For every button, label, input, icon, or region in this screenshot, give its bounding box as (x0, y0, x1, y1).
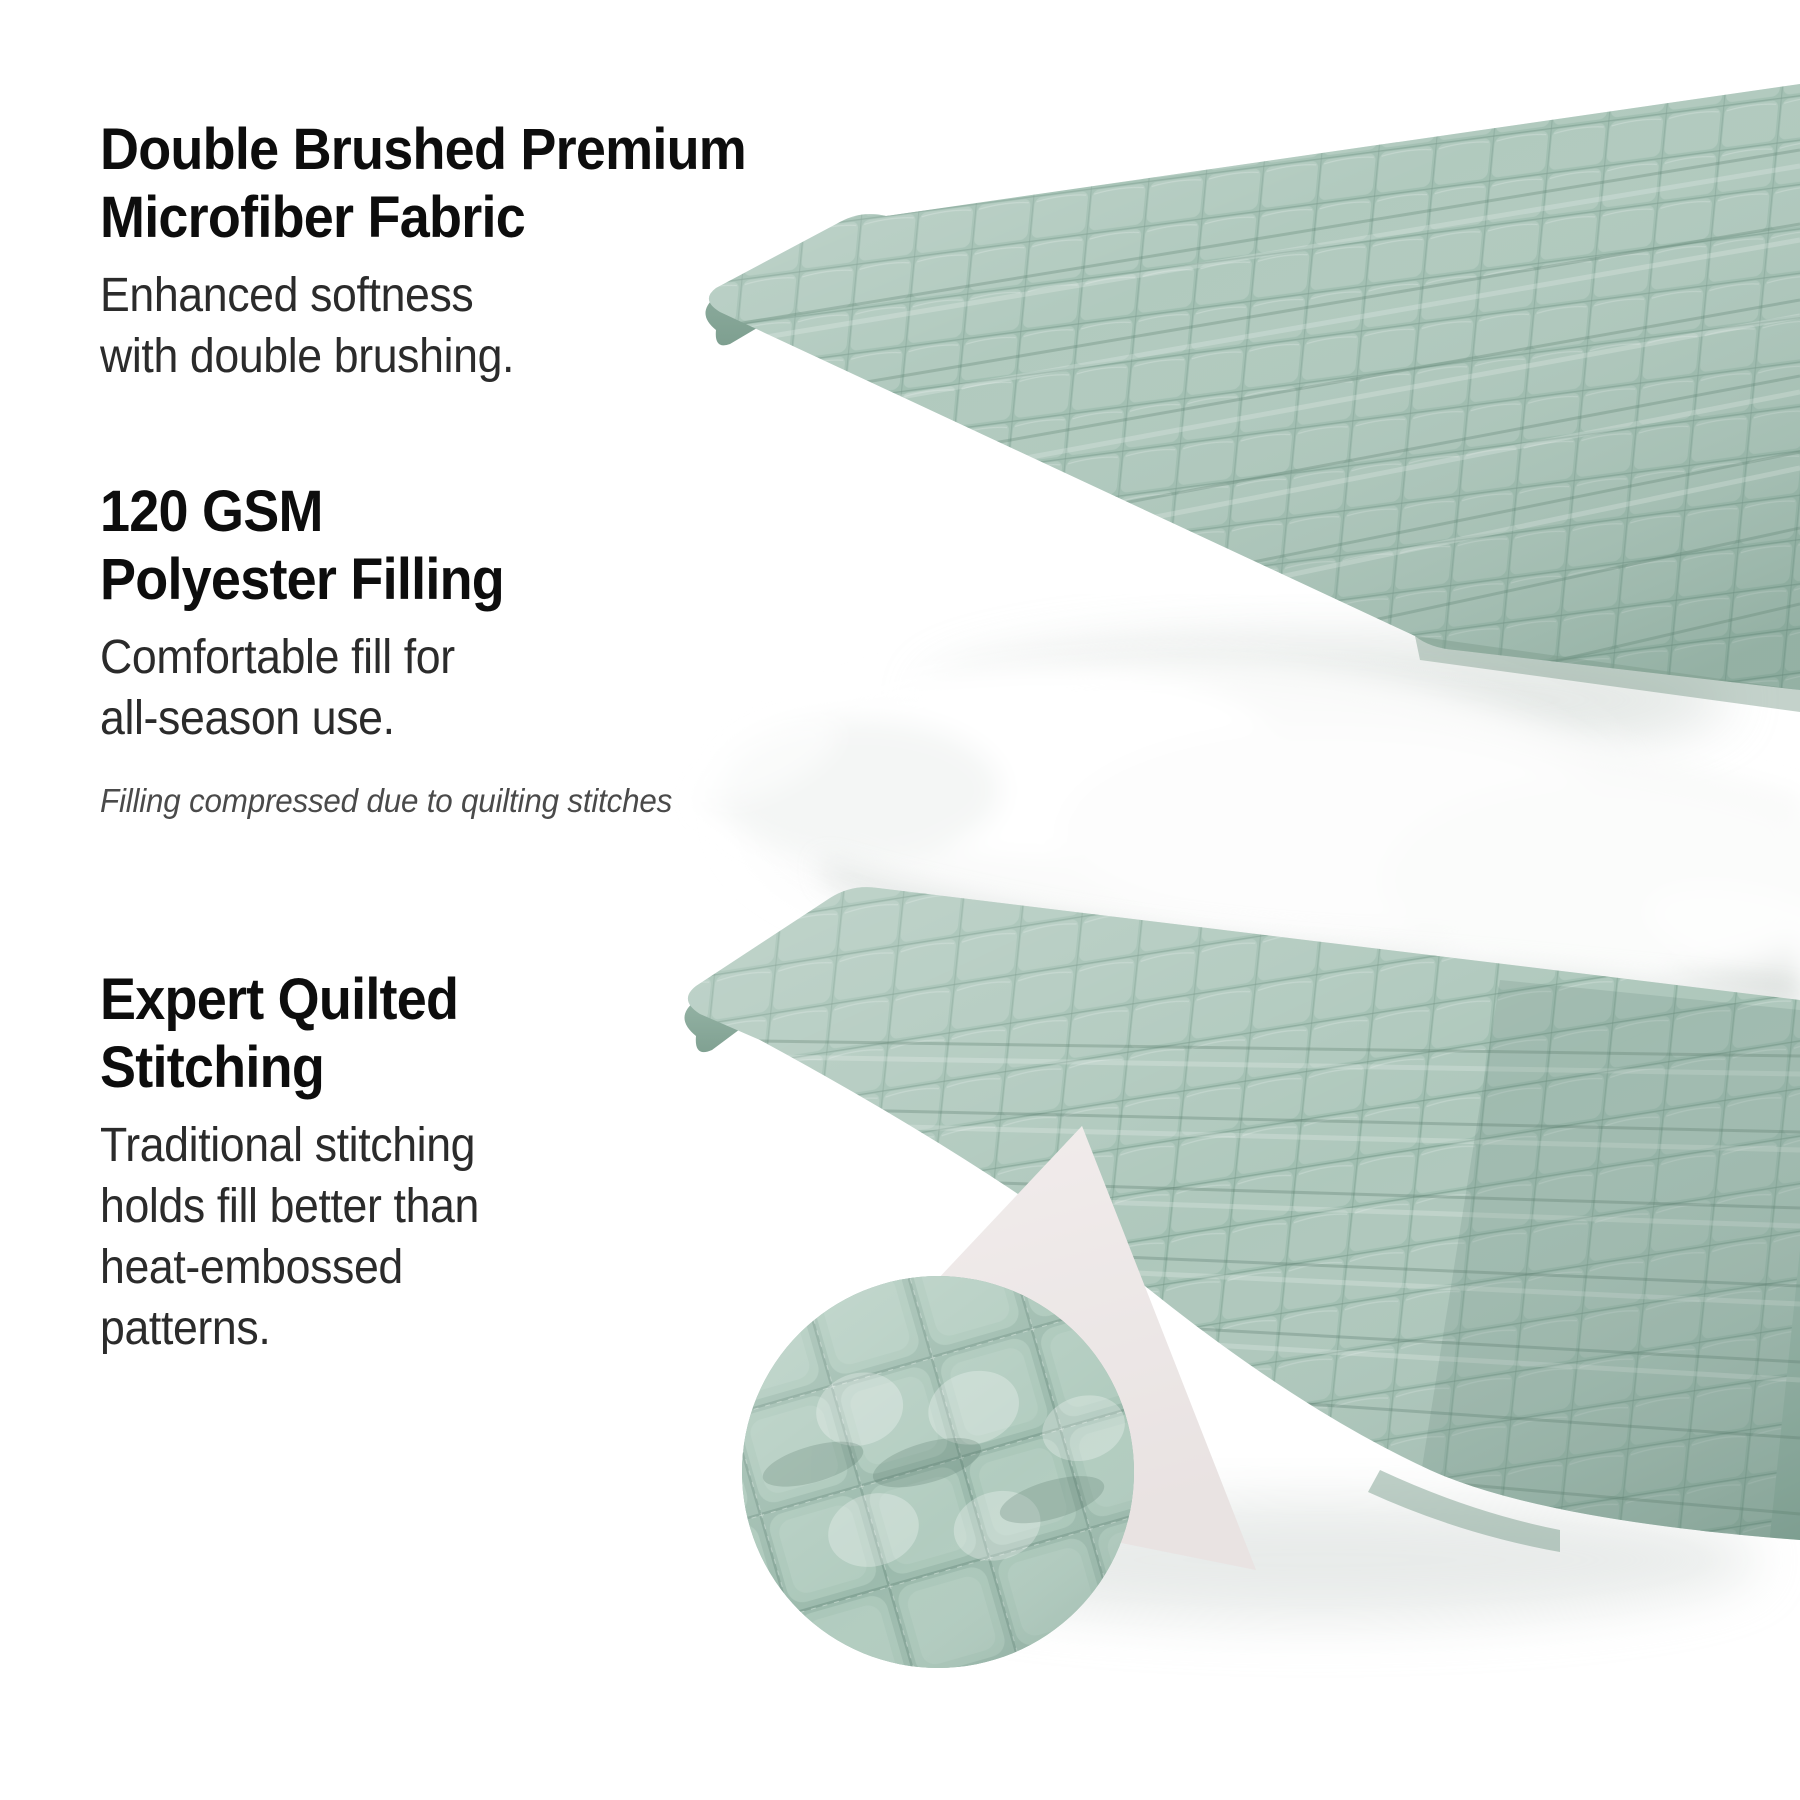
feature-copy-column: Double Brushed Premium Microfiber Fabric… (100, 0, 900, 1800)
feature-body: Traditional stitching holds fill better … (100, 1116, 844, 1360)
feature-title: 120 GSM Polyester Filling (100, 478, 844, 614)
feature-body: Comfortable fill for all-season use. (100, 628, 844, 750)
infographic-canvas: Double Brushed Premium Microfiber Fabric… (0, 0, 1800, 1800)
feature-title: Double Brushed Premium Microfiber Fabric (100, 116, 844, 252)
feature-block-expert-quilted-stitching: Expert Quilted Stitching Traditional sti… (100, 966, 900, 1360)
feature-note: Filling compressed due to quilting stitc… (100, 780, 860, 823)
feature-block-polyester-filling: 120 GSM Polyester Filling Comfortable fi… (100, 478, 900, 823)
feature-body: Enhanced softness with double brushing. (100, 266, 844, 388)
feature-title: Expert Quilted Stitching (100, 966, 844, 1102)
feature-block-double-brushed-microfiber: Double Brushed Premium Microfiber Fabric… (100, 116, 900, 388)
